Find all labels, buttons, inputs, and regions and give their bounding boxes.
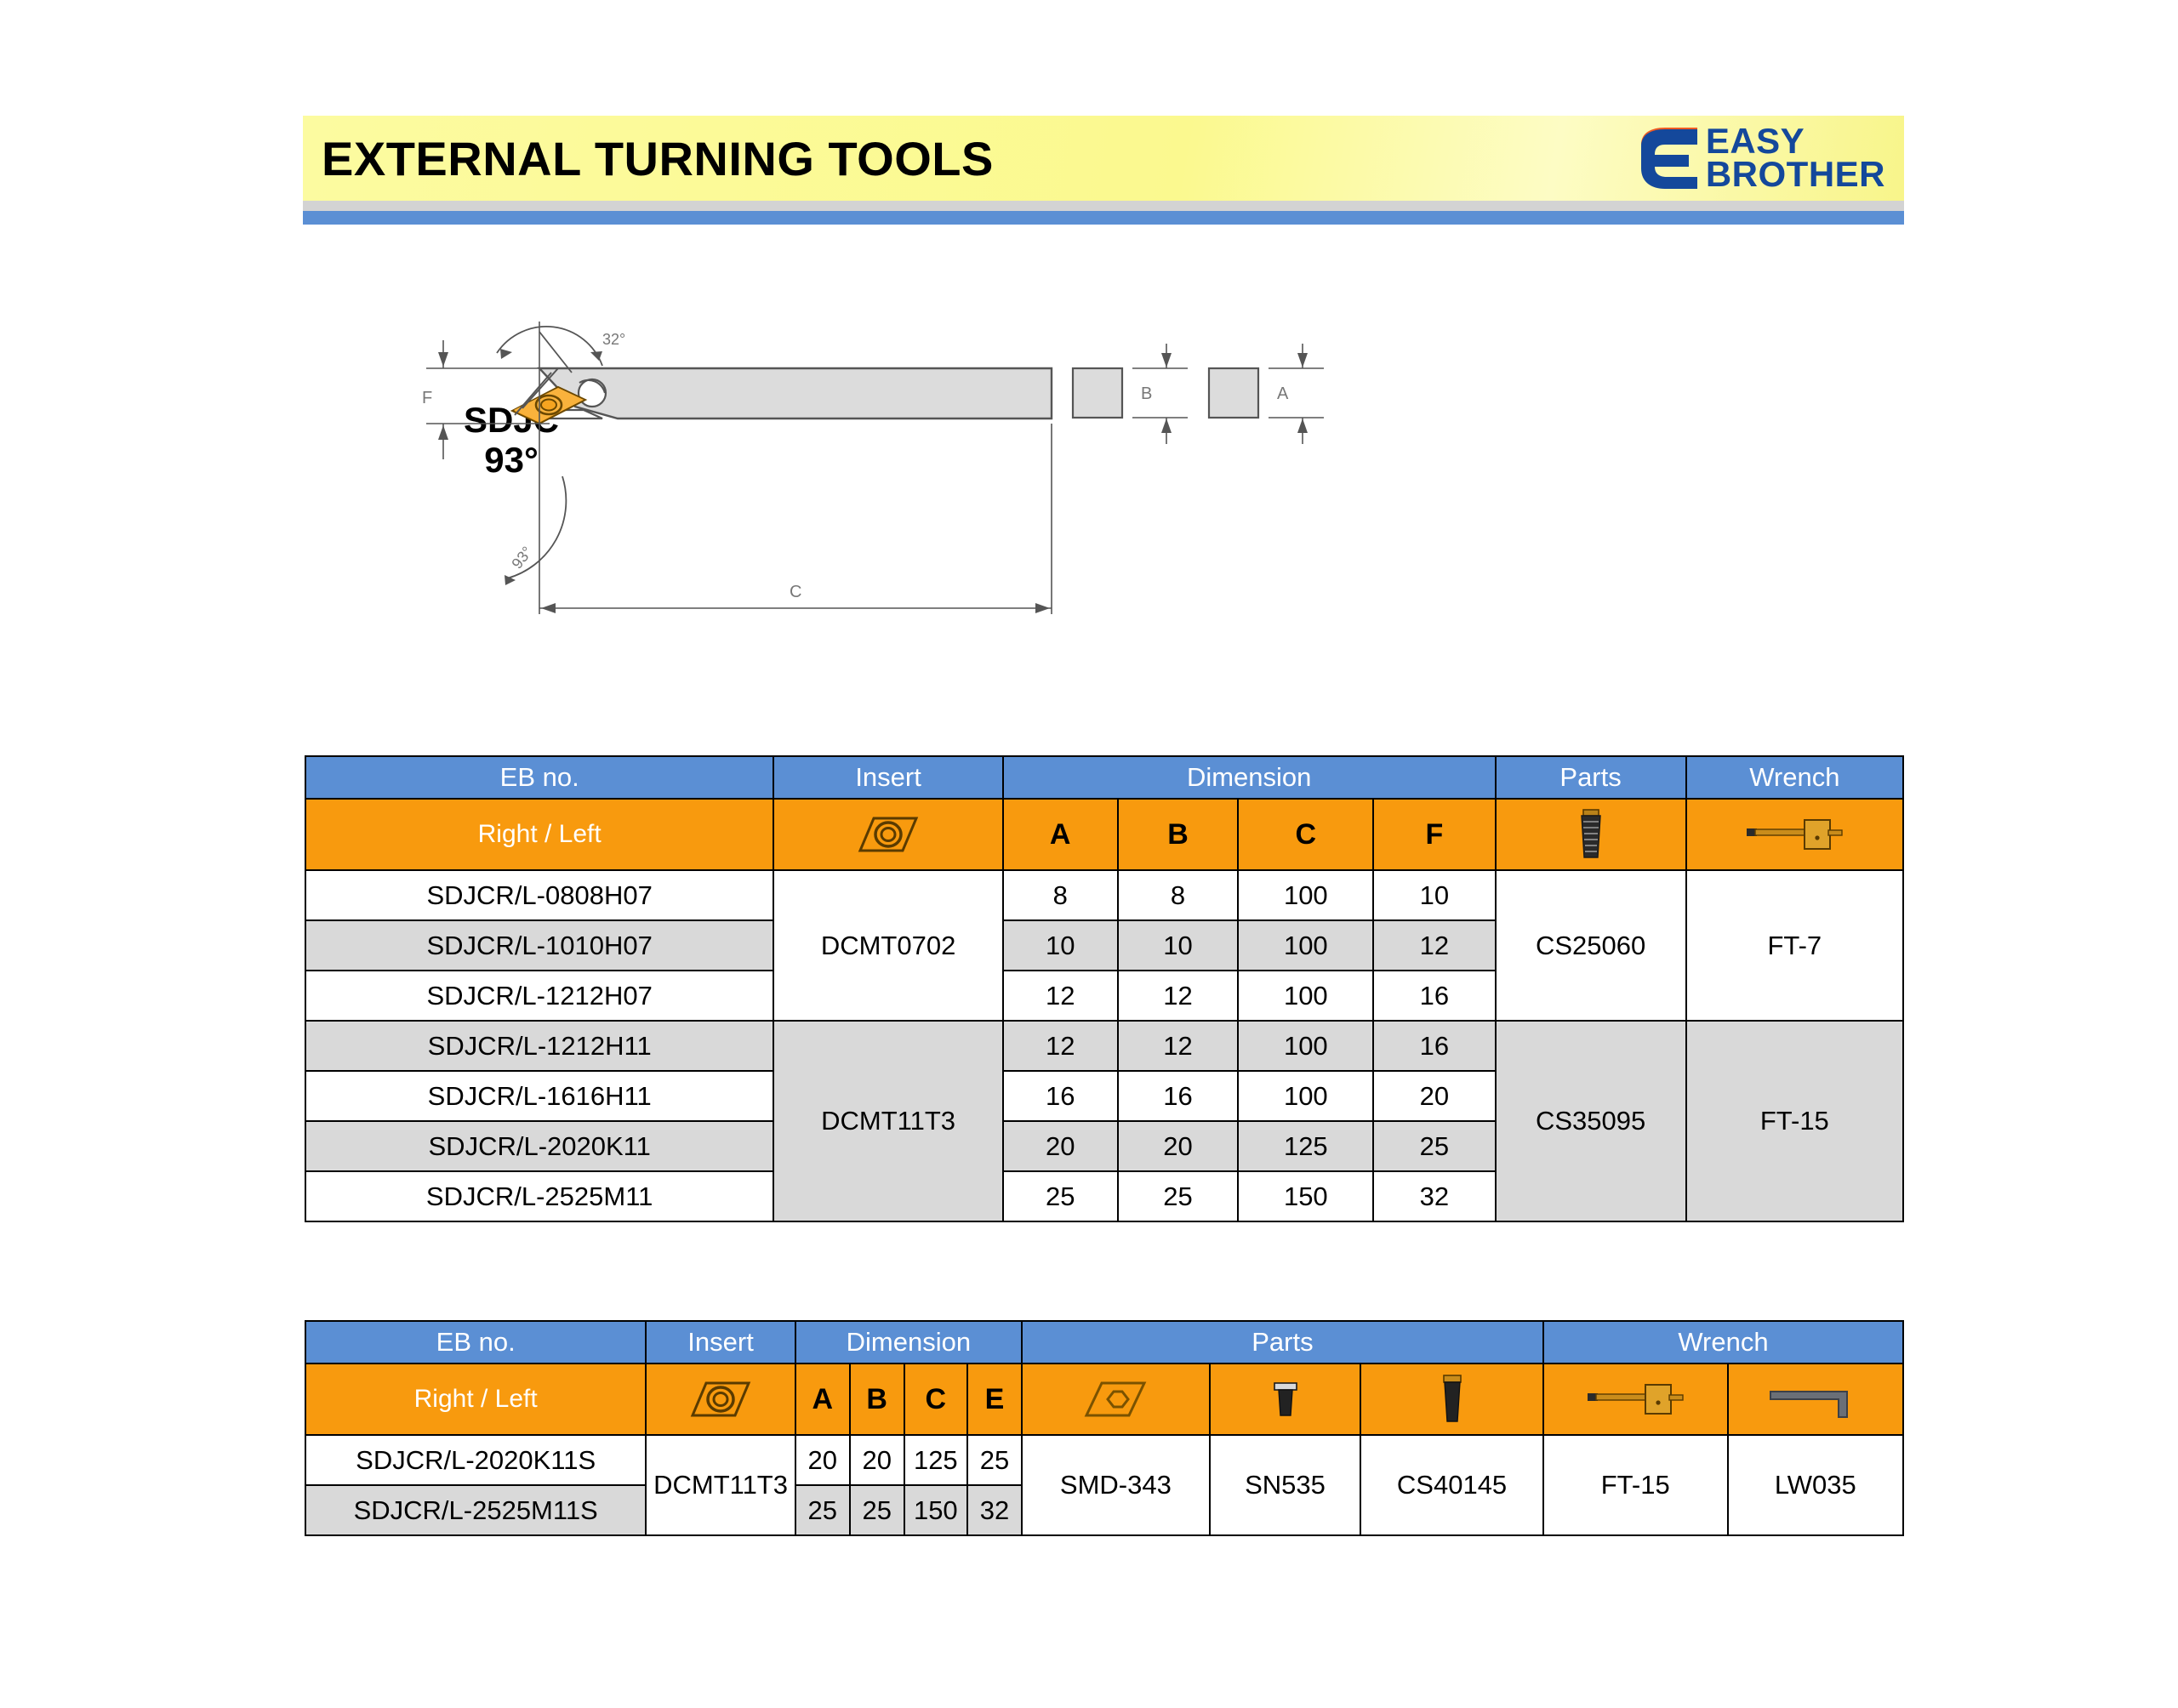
- cell-wrench-hex: LW035: [1728, 1435, 1903, 1535]
- tool-technical-drawing: 32° 93° F C: [303, 315, 1904, 638]
- table-row: SDJCR/L-0808H07 DCMT0702 8 8 100 10 CS25…: [305, 870, 1903, 920]
- cell-wrench-group: FT-15: [1686, 1021, 1903, 1221]
- cell-dim-b: 10: [1118, 920, 1239, 971]
- diamond-insert-icon: [774, 800, 1001, 869]
- cell-dim-e: 25: [967, 1435, 1022, 1485]
- col-header-dimension: Dimension: [1003, 756, 1496, 799]
- page-title: EXTERNAL TURNING TOOLS: [322, 131, 994, 186]
- cell-wrench-torx: FT-15: [1543, 1435, 1728, 1535]
- cell-dim-c: 125: [904, 1435, 967, 1485]
- cell-dim-b: 25: [1118, 1171, 1239, 1221]
- sub-header-dim-c: C: [1238, 799, 1373, 870]
- cell-dim-a: 10: [1003, 920, 1118, 971]
- cell-dim-c: 100: [1238, 1021, 1373, 1071]
- cell-dim-f: 25: [1373, 1121, 1495, 1171]
- table-row: SDJCR/L-2020K11S DCMT11T3 20 20 125 25 S…: [305, 1435, 1903, 1485]
- specifications-table-secondary: EB no. Insert Dimension Parts Wrench Rig…: [305, 1320, 1904, 1536]
- cell-insert-group: DCMT0702: [773, 870, 1002, 1021]
- angle-93-label: 93°: [508, 544, 536, 572]
- sub-header-right-left: Right / Left: [305, 799, 773, 870]
- torx-key-wrench-icon: [1687, 800, 1902, 869]
- cell-dim-f: 16: [1373, 971, 1495, 1021]
- cell-dim-c: 100: [1238, 920, 1373, 971]
- cell-dim-f: 20: [1373, 1071, 1495, 1121]
- cell-eb-no: SDJCR/L-2525M11S: [305, 1485, 646, 1535]
- sub-header-dim-f: F: [1373, 799, 1495, 870]
- table1-header-row-top: EB no. Insert Dimension Parts Wrench: [305, 756, 1903, 799]
- dim-a-label: A: [1277, 384, 1289, 403]
- col-header-eb-no: EB no.: [305, 1321, 646, 1364]
- cell-eb-no: SDJCR/L-1616H11: [305, 1071, 773, 1121]
- sub-header-shim-screw-cell: [1210, 1364, 1360, 1435]
- hex-key-wrench-icon: [1729, 1364, 1902, 1434]
- col-header-insert: Insert: [646, 1321, 795, 1364]
- sub-header-torx-wrench-cell: [1543, 1364, 1728, 1435]
- clamp-screw-icon: [1497, 800, 1685, 869]
- cell-eb-no: SDJCR/L-2020K11S: [305, 1435, 646, 1485]
- table-row: SDJCR/L-1212H11 DCMT11T3 12 12 100 16 CS…: [305, 1021, 1903, 1071]
- banner-gray-rule: [303, 201, 1904, 211]
- dim-b-label: B: [1141, 384, 1152, 403]
- sub-header-dim-a: A: [1003, 799, 1118, 870]
- cell-dim-b: 12: [1118, 1021, 1239, 1071]
- cell-dim-f: 16: [1373, 1021, 1495, 1071]
- col-header-dimension: Dimension: [795, 1321, 1022, 1364]
- cell-insert-group: DCMT11T3: [773, 1021, 1002, 1221]
- cell-eb-no: SDJCR/L-2020K11: [305, 1121, 773, 1171]
- cell-dim-e: 32: [967, 1485, 1022, 1535]
- torx-key-wrench-icon: [1544, 1364, 1727, 1434]
- cell-eb-no: SDJCR/L-1010H07: [305, 920, 773, 971]
- clamp-screw-icon: [1361, 1364, 1542, 1434]
- sub-header-dim-a: A: [795, 1364, 850, 1435]
- cell-eb-no: SDJCR/L-1212H07: [305, 971, 773, 1021]
- col-header-wrench: Wrench: [1686, 756, 1903, 799]
- sub-header-dim-e: E: [967, 1364, 1022, 1435]
- col-header-wrench: Wrench: [1543, 1321, 1903, 1364]
- col-header-insert: Insert: [773, 756, 1002, 799]
- col-header-parts: Parts: [1496, 756, 1686, 799]
- col-header-parts: Parts: [1022, 1321, 1543, 1364]
- cell-dim-c: 150: [1238, 1171, 1373, 1221]
- cell-eb-no: SDJCR/L-1212H11: [305, 1021, 773, 1071]
- cell-dim-b: 8: [1118, 870, 1239, 920]
- cell-dim-a: 16: [1003, 1071, 1118, 1121]
- cell-dim-a: 8: [1003, 870, 1118, 920]
- sub-header-wrench-icon-cell: [1686, 799, 1903, 870]
- sub-header-dim-c: C: [904, 1364, 967, 1435]
- cell-part-clamp-screw: CS40145: [1360, 1435, 1543, 1535]
- sub-header-shim-plate-cell: [1022, 1364, 1210, 1435]
- angle-32-label: 32°: [602, 331, 625, 348]
- diamond-insert-icon: [647, 1364, 794, 1434]
- sub-header-dim-b: B: [1118, 799, 1239, 870]
- table2-header-row-top: EB no. Insert Dimension Parts Wrench: [305, 1321, 1903, 1364]
- shim-screw-icon: [1211, 1364, 1360, 1434]
- cell-eb-no: SDJCR/L-0808H07: [305, 870, 773, 920]
- sub-header-right-left: Right / Left: [305, 1364, 646, 1435]
- cell-part-shim-screw: SN535: [1210, 1435, 1360, 1535]
- cell-part-shim-plate: SMD-343: [1022, 1435, 1210, 1535]
- cell-dim-b: 25: [850, 1485, 904, 1535]
- sub-header-insert-icon-cell: [646, 1364, 795, 1435]
- sub-header-insert-icon-cell: [773, 799, 1002, 870]
- cell-dim-a: 20: [795, 1435, 850, 1485]
- shim-plate-icon: [1023, 1364, 1209, 1434]
- sub-header-clamp-screw-cell: [1360, 1364, 1543, 1435]
- easy-brother-logo: EASY BROTHER: [1631, 125, 1885, 191]
- banner-blue-rule: [303, 211, 1904, 225]
- cell-parts-group: CS35095: [1496, 1021, 1686, 1221]
- sub-header-dim-b: B: [850, 1364, 904, 1435]
- cell-dim-c: 100: [1238, 870, 1373, 920]
- logo-e-mark-icon: [1631, 126, 1701, 191]
- cell-dim-c: 150: [904, 1485, 967, 1535]
- col-header-eb-no: EB no.: [305, 756, 773, 799]
- table2-header-row-sub: Right / Left A B C E: [305, 1364, 1903, 1435]
- cell-dim-c: 100: [1238, 1071, 1373, 1121]
- cell-dim-b: 20: [1118, 1121, 1239, 1171]
- cell-dim-f: 12: [1373, 920, 1495, 971]
- cell-wrench-group: FT-7: [1686, 870, 1903, 1021]
- cell-dim-c: 100: [1238, 971, 1373, 1021]
- page-header-banner: EXTERNAL TURNING TOOLS EASY BROTHER: [303, 116, 1904, 201]
- cell-dim-b: 12: [1118, 971, 1239, 1021]
- cell-insert-group: DCMT11T3: [646, 1435, 795, 1535]
- cell-dim-f: 10: [1373, 870, 1495, 920]
- dim-f-label: F: [422, 389, 432, 407]
- cell-dim-a: 25: [1003, 1171, 1118, 1221]
- cell-dim-a: 12: [1003, 971, 1118, 1021]
- specifications-table-primary: EB no. Insert Dimension Parts Wrench Rig…: [305, 755, 1904, 1222]
- logo-text-brother: BROTHER: [1706, 158, 1885, 191]
- cell-dim-f: 32: [1373, 1171, 1495, 1221]
- sub-header-parts-icon-cell: [1496, 799, 1686, 870]
- cell-dim-b: 16: [1118, 1071, 1239, 1121]
- tool-diagram: SDJC 93°: [303, 315, 1904, 638]
- cell-parts-group: CS25060: [1496, 870, 1686, 1021]
- cell-dim-a: 25: [795, 1485, 850, 1535]
- dim-c-label: C: [790, 583, 801, 601]
- cell-dim-c: 125: [1238, 1121, 1373, 1171]
- cell-eb-no: SDJCR/L-2525M11: [305, 1171, 773, 1221]
- cell-dim-b: 20: [850, 1435, 904, 1485]
- cell-dim-a: 20: [1003, 1121, 1118, 1171]
- table1-header-row-sub: Right / Left A B C F: [305, 799, 1903, 870]
- cell-dim-a: 12: [1003, 1021, 1118, 1071]
- sub-header-hex-wrench-cell: [1728, 1364, 1903, 1435]
